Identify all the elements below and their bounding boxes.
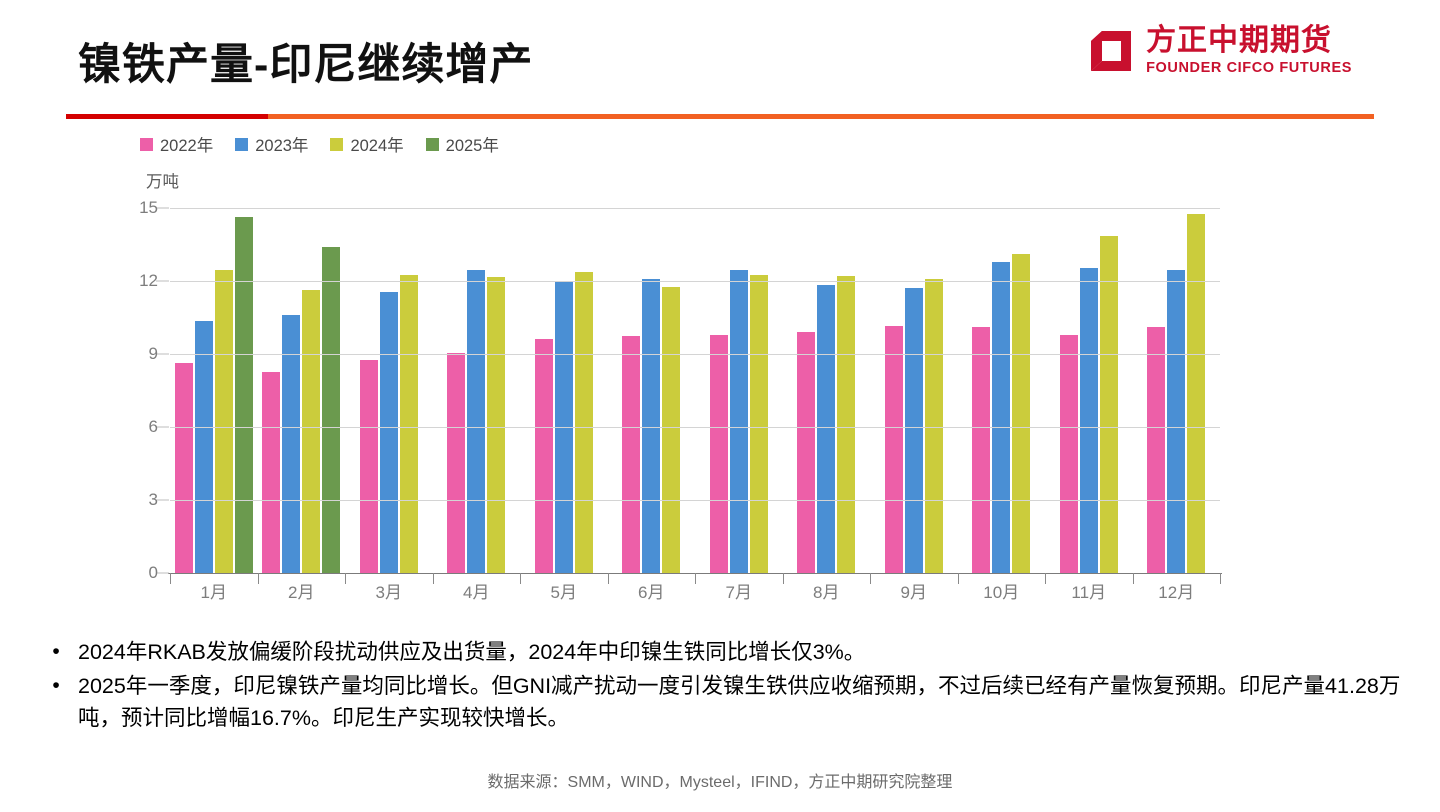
bar-2023年-8月[interactable] bbox=[817, 285, 835, 573]
bar-2022年-7月[interactable] bbox=[710, 335, 728, 573]
bar-2022年-9月[interactable] bbox=[885, 326, 903, 573]
bar-2023年-11月[interactable] bbox=[1080, 268, 1098, 573]
plot-area: 03691215 bbox=[170, 208, 1220, 573]
bar-2024年-10月[interactable] bbox=[1012, 254, 1030, 573]
bar-2022年-8月[interactable] bbox=[797, 332, 815, 573]
bar-2022年-3月[interactable] bbox=[360, 360, 378, 573]
bar-groups bbox=[170, 208, 1220, 573]
bar-2024年-3月[interactable] bbox=[400, 275, 418, 573]
y-axis-tick-label: 6 bbox=[118, 417, 158, 437]
bar-group-8月 bbox=[783, 208, 871, 573]
bar-2023年-4月[interactable] bbox=[467, 270, 485, 573]
bar-group-9月 bbox=[870, 208, 958, 573]
x-axis-tick-mark bbox=[1220, 573, 1221, 584]
x-axis-label-11月: 11月 bbox=[1045, 578, 1133, 603]
bar-2023年-3月[interactable] bbox=[380, 292, 398, 573]
bullet-text: 2024年RKAB发放偏缓阶段扰动供应及出货量，2024年中印镍生铁同比增长仅3… bbox=[78, 636, 1414, 668]
bar-2022年-6月[interactable] bbox=[622, 336, 640, 573]
x-axis-label-5月: 5月 bbox=[520, 578, 608, 603]
bar-group-2月 bbox=[258, 208, 346, 573]
bullet-marker-icon: • bbox=[34, 670, 78, 702]
divider-segment-red bbox=[66, 114, 268, 119]
bar-2024年-4月[interactable] bbox=[487, 277, 505, 573]
bar-2023年-10月[interactable] bbox=[992, 262, 1010, 573]
x-axis-label-9月: 9月 bbox=[870, 578, 958, 603]
brand-name-en: FOUNDER CIFCO FUTURES bbox=[1146, 61, 1352, 76]
x-axis-label-2月: 2月 bbox=[258, 578, 346, 603]
bar-2022年-1月[interactable] bbox=[175, 363, 193, 573]
x-axis-label-1月: 1月 bbox=[170, 578, 258, 603]
y-axis-tick-label: 15 bbox=[118, 198, 158, 218]
bar-2024年-5月[interactable] bbox=[575, 272, 593, 573]
bar-2023年-6月[interactable] bbox=[642, 279, 660, 573]
y-axis-tick-label: 9 bbox=[118, 344, 158, 364]
bar-2024年-11月[interactable] bbox=[1100, 236, 1118, 573]
bar-2023年-12月[interactable] bbox=[1167, 270, 1185, 573]
bar-group-7月 bbox=[695, 208, 783, 573]
title-divider bbox=[66, 114, 1374, 119]
brand-name-cn: 方正中期期货 bbox=[1146, 26, 1352, 56]
bullet-marker-icon: • bbox=[34, 636, 78, 668]
x-axis-labels: 1月2月3月4月5月6月7月8月9月10月11月12月 bbox=[170, 578, 1220, 603]
bar-2022年-10月[interactable] bbox=[972, 327, 990, 573]
bar-group-4月 bbox=[433, 208, 521, 573]
x-axis-label-4月: 4月 bbox=[433, 578, 521, 603]
y-axis-tick-label: 12 bbox=[118, 271, 158, 291]
bar-2024年-6月[interactable] bbox=[662, 287, 680, 573]
bar-2024年-9月[interactable] bbox=[925, 279, 943, 573]
bullet-text: 2025年一季度，印尼镍铁产量均同比增长。但GNI减产扰动一度引发镍生铁供应收缩… bbox=[78, 670, 1414, 734]
gridline bbox=[170, 427, 1220, 428]
bar-group-5月 bbox=[520, 208, 608, 573]
bar-2024年-12月[interactable] bbox=[1187, 214, 1205, 573]
bar-group-12月 bbox=[1133, 208, 1221, 573]
slide-header: 镍铁产量-印尼继续增产 方正中期期货 FOUNDER CIFCO FUTURES bbox=[0, 0, 1440, 118]
gridline bbox=[170, 500, 1220, 501]
bar-2023年-9月[interactable] bbox=[905, 288, 923, 573]
bar-2025年-2月[interactable] bbox=[322, 247, 340, 573]
bar-2022年-5月[interactable] bbox=[535, 339, 553, 573]
divider-segment-orange bbox=[268, 114, 1374, 119]
bar-group-1月 bbox=[170, 208, 258, 573]
bar-group-6月 bbox=[608, 208, 696, 573]
x-axis-label-3月: 3月 bbox=[345, 578, 433, 603]
bar-2024年-1月[interactable] bbox=[215, 270, 233, 573]
y-axis-tick-label: 3 bbox=[118, 490, 158, 510]
bar-2022年-4月[interactable] bbox=[447, 353, 465, 573]
bar-2024年-7月[interactable] bbox=[750, 275, 768, 573]
page-title: 镍铁产量-印尼继续增产 bbox=[78, 30, 533, 92]
brand-logo: 方正中期期货 FOUNDER CIFCO FUTURES bbox=[1088, 26, 1352, 76]
gridline bbox=[170, 281, 1220, 282]
x-axis-label-8月: 8月 bbox=[783, 578, 871, 603]
gridline bbox=[170, 354, 1220, 355]
bar-group-10月 bbox=[958, 208, 1046, 573]
x-axis-label-12月: 12月 bbox=[1133, 578, 1221, 603]
plot-wrapper: 03691215 1月2月3月4月5月6月7月8月9月10月11月12月 bbox=[0, 126, 1440, 622]
brand-text: 方正中期期货 FOUNDER CIFCO FUTURES bbox=[1146, 26, 1352, 76]
bar-2022年-2月[interactable] bbox=[262, 372, 280, 573]
x-axis-label-7月: 7月 bbox=[695, 578, 783, 603]
chart-block: 2022年2023年2024年2025年 万吨 03691215 1月2月3月4… bbox=[0, 126, 1440, 622]
bar-2023年-7月[interactable] bbox=[730, 270, 748, 573]
founder-cube-logo-icon bbox=[1088, 28, 1134, 74]
footer-source: 数据来源：SMM，WIND，Mysteel，IFIND，方正中期研究院整理 bbox=[0, 768, 1440, 792]
bar-group-3月 bbox=[345, 208, 433, 573]
bar-2023年-1月[interactable] bbox=[195, 321, 213, 573]
bar-2024年-8月[interactable] bbox=[837, 276, 855, 573]
bar-2022年-11月[interactable] bbox=[1060, 335, 1078, 573]
gridline bbox=[170, 208, 1220, 209]
bullet-list: •2024年RKAB发放偏缓阶段扰动供应及出货量，2024年中印镍生铁同比增长仅… bbox=[34, 636, 1414, 736]
x-axis-label-10月: 10月 bbox=[958, 578, 1046, 603]
bullet-item-2: •2025年一季度，印尼镍铁产量均同比增长。但GNI减产扰动一度引发镍生铁供应收… bbox=[34, 670, 1414, 734]
bar-2025年-1月[interactable] bbox=[235, 217, 253, 573]
bullet-item-1: •2024年RKAB发放偏缓阶段扰动供应及出货量，2024年中印镍生铁同比增长仅… bbox=[34, 636, 1414, 668]
bar-group-11月 bbox=[1045, 208, 1133, 573]
bar-2022年-12月[interactable] bbox=[1147, 327, 1165, 573]
y-axis-tick-label: 0 bbox=[118, 563, 158, 583]
bar-2024年-2月[interactable] bbox=[302, 290, 320, 573]
x-axis-label-6月: 6月 bbox=[608, 578, 696, 603]
